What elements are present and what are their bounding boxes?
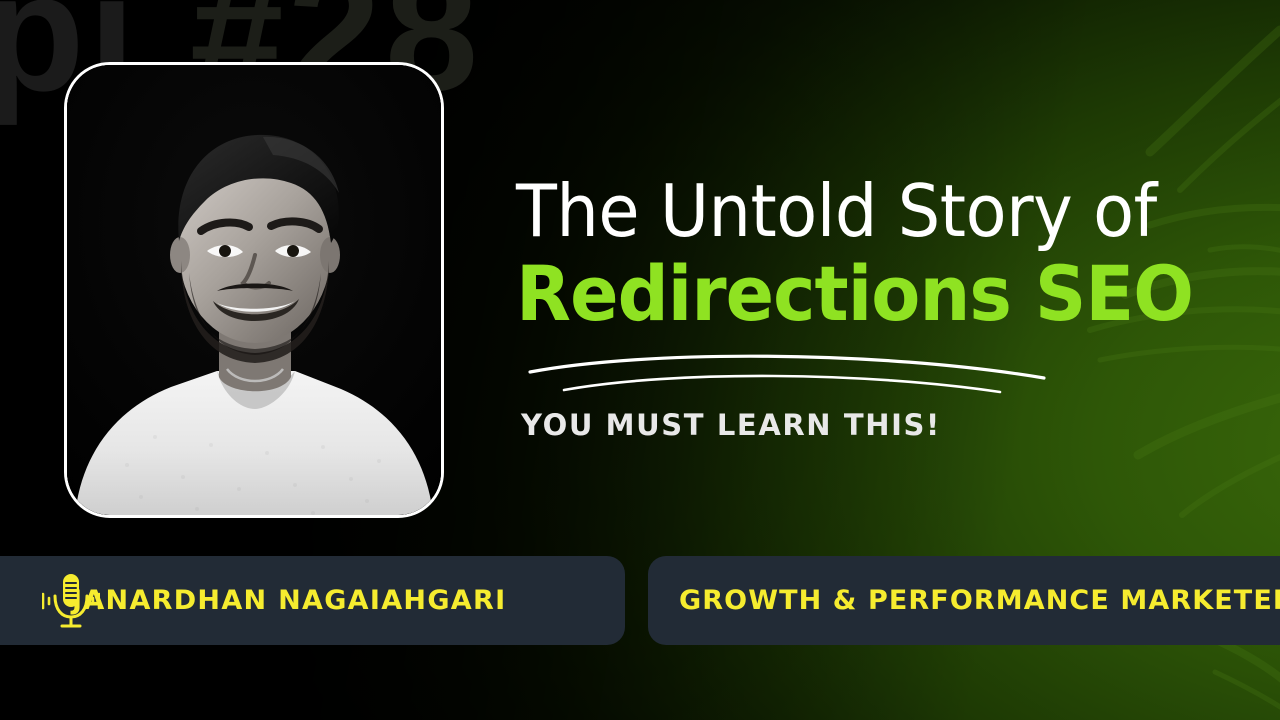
title-block: The Untold Story of Redirections SEO bbox=[516, 175, 1216, 332]
host-name-label: JANARDHAN NAGAIAHGARI bbox=[72, 585, 506, 616]
subtitle: YOU MUST LEARN THIS! bbox=[521, 408, 941, 442]
page-title-line-2: Redirections SEO bbox=[516, 256, 1174, 332]
host-name-bar: JANARDHAN NAGAIAHGARI bbox=[0, 556, 625, 645]
host-role-bar: GROWTH & PERFORMANCE MARKETER bbox=[648, 556, 1280, 645]
avatar bbox=[67, 65, 441, 515]
podcast-microphone-icon bbox=[42, 571, 100, 631]
podcast-thumbnail-canvas: pi #28 bbox=[0, 0, 1280, 720]
host-role-label: GROWTH & PERFORMANCE MARKETER bbox=[679, 585, 1280, 616]
page-title-line-1: The Untold Story of bbox=[516, 175, 1167, 247]
host-portrait-frame bbox=[64, 62, 444, 518]
portrait-illustration-icon bbox=[67, 65, 441, 515]
